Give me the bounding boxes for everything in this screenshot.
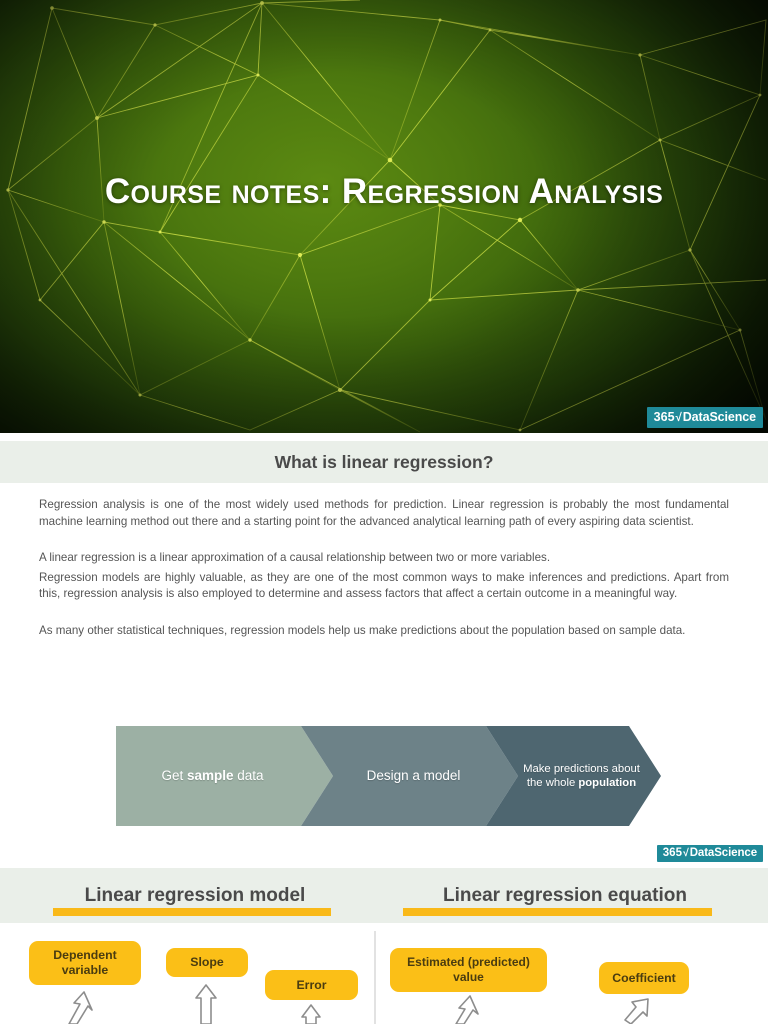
hero-title-slide: Course notes: Regression Analysis 365√Da… — [0, 0, 768, 433]
process-step-1-post: data — [234, 768, 264, 783]
brand-logo-number: 365 — [654, 410, 675, 424]
brand-logo-hero: 365√DataScience — [647, 407, 763, 428]
process-step-1-pre: Get — [161, 768, 187, 783]
brand-logo-number: 365 — [663, 847, 682, 859]
page-title: Course notes: Regression Analysis — [100, 168, 668, 216]
paragraph-1: Regression analysis is one of the most w… — [39, 497, 729, 530]
brand-logo-word: DataScience — [690, 847, 757, 859]
column-divider — [374, 931, 376, 1024]
process-step-1-bold: sample — [187, 768, 234, 783]
network-mesh-graphic — [0, 0, 768, 433]
callout-box-slope: Slope — [166, 948, 248, 977]
process-step-3-label: Make predictions about the whole populat… — [516, 762, 647, 791]
section-heading-question: What is linear regression? — [0, 441, 768, 483]
paragraph-4: As many other statistical techniques, re… — [39, 623, 729, 640]
arrow-estimated-value — [456, 996, 478, 1024]
radical-icon: √ — [675, 412, 683, 424]
process-chevron-diagram: Get sample data Design a model Make pred… — [116, 726, 661, 826]
slide-page: Course notes: Regression Analysis 365√Da… — [0, 0, 768, 1024]
process-step-1: Get sample data — [116, 726, 333, 826]
accent-rule-right — [403, 908, 712, 916]
callout-box-estimated-value: Estimated (predicted) value — [390, 948, 547, 992]
process-step-2-pre: Design a model — [367, 768, 461, 783]
process-step-3-bold: population — [578, 777, 636, 789]
callout-box-error: Error — [265, 970, 358, 1000]
arrow-dependent-variable — [69, 992, 92, 1024]
radical-icon: √ — [682, 847, 690, 859]
body-copy: Regression analysis is one of the most w… — [39, 497, 729, 640]
arrow-coefficient — [625, 999, 648, 1024]
brand-logo-mid: 365√DataScience — [657, 845, 763, 862]
callout-box-dependent-variable: Dependent variable — [29, 941, 141, 985]
section-header-band-question: What is linear regression? — [0, 441, 768, 483]
arrow-slope — [196, 985, 216, 1024]
process-step-2-label: Design a model — [329, 767, 498, 784]
paragraph-spacer — [39, 530, 729, 550]
paragraph-3: Regression models are highly valuable, a… — [39, 570, 729, 603]
callout-box-coefficient: Coefficient — [599, 962, 689, 994]
paragraph-2: A linear regression is a linear approxim… — [39, 550, 729, 567]
brand-logo-word: DataScience — [683, 410, 756, 424]
process-step-1-label: Get sample data — [116, 767, 309, 784]
arrow-error — [302, 1005, 320, 1024]
paragraph-spacer — [39, 603, 729, 623]
process-step-2: Design a model — [301, 726, 518, 826]
accent-rule-left — [53, 908, 331, 916]
